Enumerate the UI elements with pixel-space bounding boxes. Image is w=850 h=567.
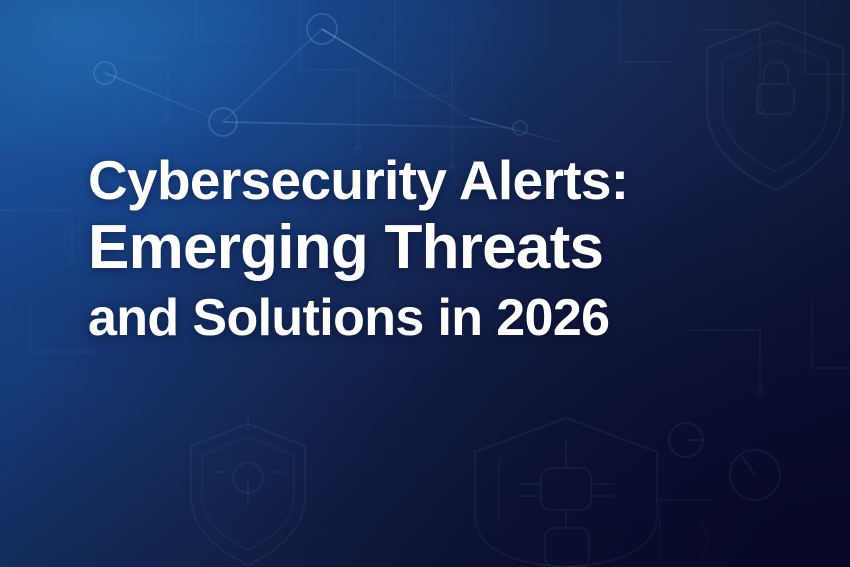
circuit-circle-icon [669, 423, 780, 560]
page-title: Cybersecurity Alerts: Emerging Threats a… [88, 152, 808, 346]
network-graphic-icon [105, 29, 560, 142]
poster-canvas: Cybersecurity Alerts: Emerging Threats a… [0, 0, 850, 567]
title-line-3: and Solutions in 2026 [88, 291, 808, 346]
title-line-1: Cybersecurity Alerts: [88, 152, 808, 209]
shield-circuit-outline-icon [475, 418, 657, 567]
title-line-2: Emerging Threats [88, 215, 808, 281]
network-node-icon [94, 14, 527, 136]
shield-lock-outline-icon [191, 412, 305, 565]
